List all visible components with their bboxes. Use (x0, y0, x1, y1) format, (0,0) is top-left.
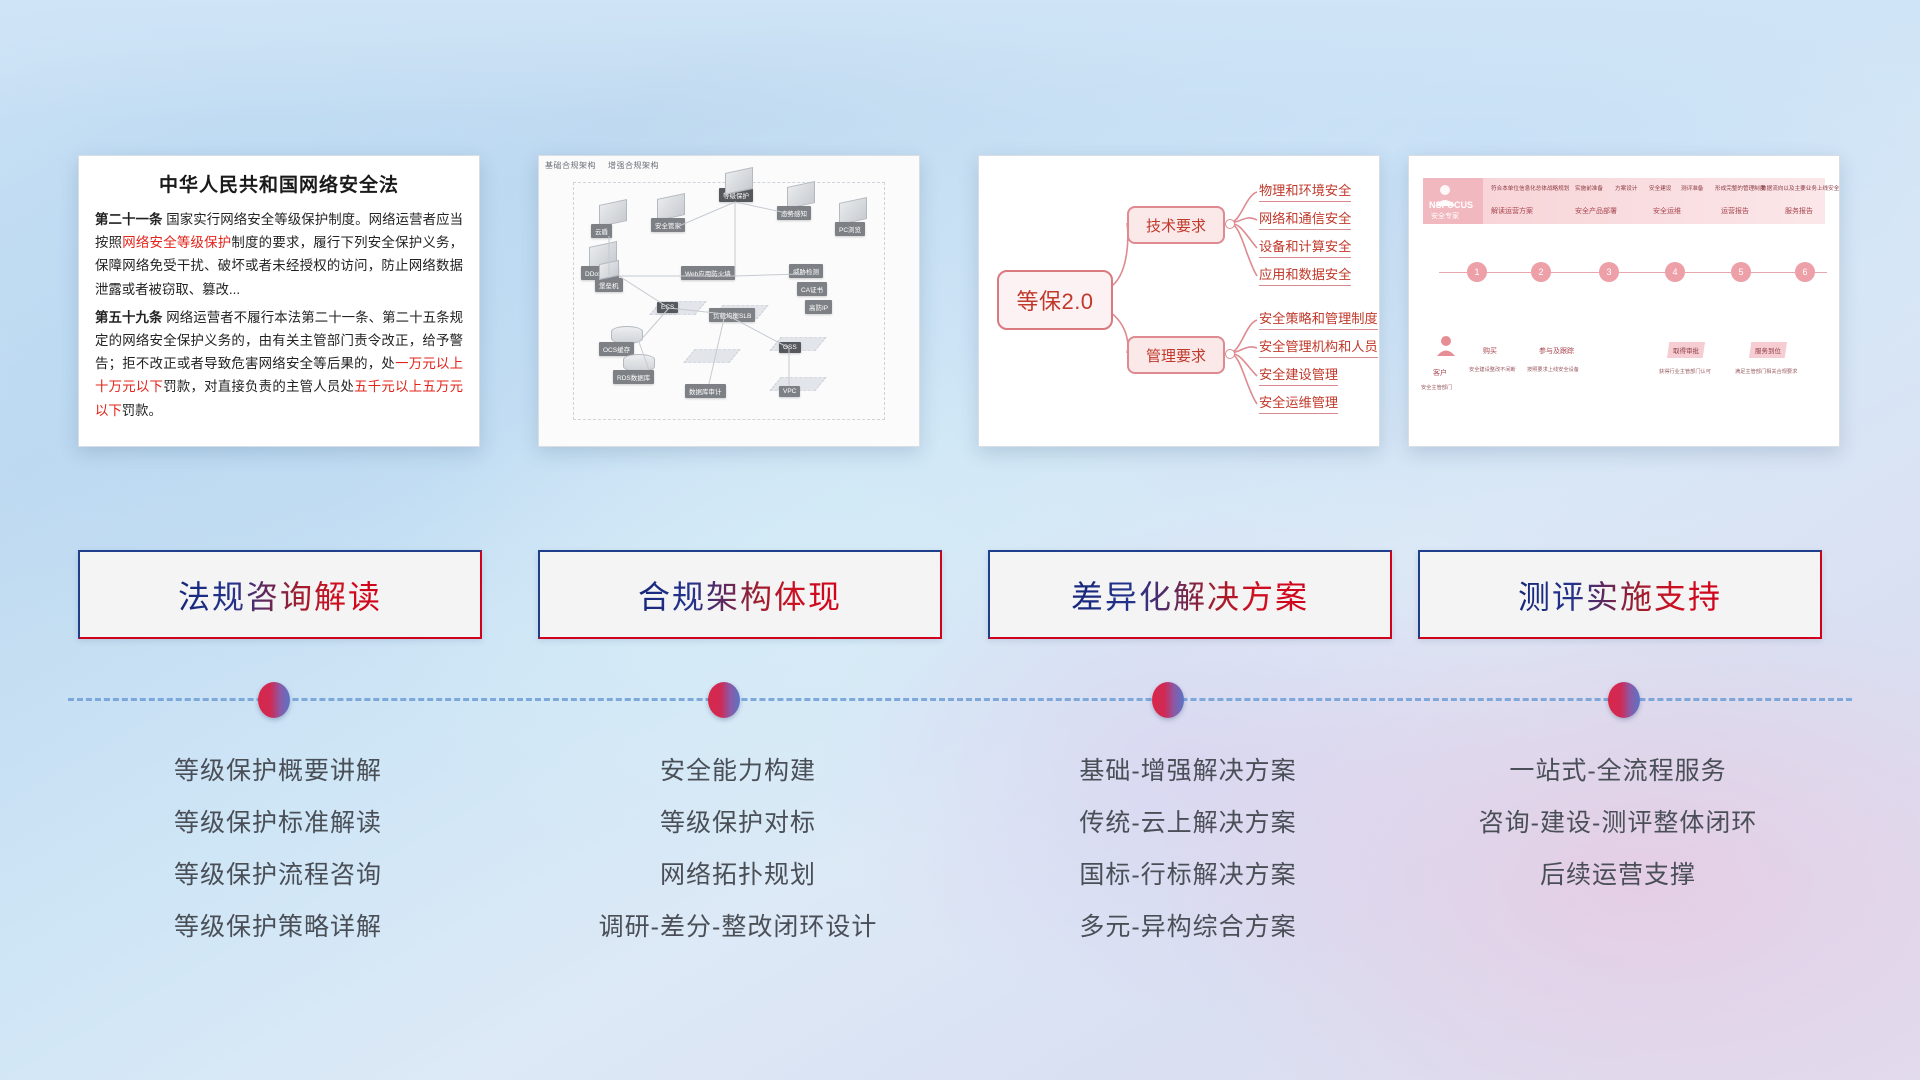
mindmap-leaf-network: 网络和通信安全 (1259, 208, 1351, 230)
mindmap-node-technical[interactable]: 技术要求 (1127, 206, 1225, 244)
pillar-title-1: 法规咨询解读 (178, 572, 382, 618)
roadmap-phase-0: 解读运营方案 (1491, 206, 1533, 216)
roadmap-phase-2: 安全运维 (1653, 206, 1681, 216)
card-cybersecurity-law[interactable]: 中华人民共和国网络安全法 第二十一条 国家实行网络安全等级保护制度。网络运营者应… (78, 155, 480, 447)
mindmap-leaf-application: 应用和数据安全 (1259, 264, 1351, 286)
card-nsfocus-roadmap[interactable]: NSFOCUS 安全专家 符合本单位信息化总体战略规划 实施前准备 方案设计 安… (1408, 155, 1840, 447)
pillar-header-1[interactable]: 法规咨询解读 (78, 550, 482, 639)
mindmap-leaf-policy: 安全策略和管理制度 (1259, 308, 1378, 330)
roadmap-bottom-sub-0: 安全建设整改不间断 (1469, 366, 1516, 373)
roadmap-band-item-6: 数据流向以及主要业务上线安全措施部署 (1761, 184, 1840, 192)
roadmap-band-item-5: 形成完整的管理制度 (1715, 184, 1765, 192)
timeline-dot-3[interactable] (1152, 682, 1184, 718)
arch-connectors (539, 156, 919, 446)
roadmap-bottom-item-1: 参与及跟踪 (1539, 346, 1574, 356)
mindmap-dot-icon (1225, 349, 1235, 359)
list-item: 等级保护策略详解 (78, 901, 478, 953)
card-dengbao-mindmap[interactable]: 等保2.0 技术要求 物理和环境安全 网络和通信安全 设备和计算安全 应用和数据… (978, 155, 1380, 447)
law-title: 中华人民共和国网络安全法 (95, 170, 463, 197)
law-article-21-label: 第二十一条 (95, 212, 162, 227)
list-item: 安全能力构建 (538, 745, 938, 797)
pillar-list-3: 基础-增强解决方案 传统-云上解决方案 国标-行标解决方案 多元-异构综合方案 (988, 745, 1388, 953)
list-item: 一站式-全流程服务 (1418, 745, 1818, 797)
pillar-list-4: 一站式-全流程服务 咨询-建设-测评整体闭环 后续运营支撑 (1418, 745, 1818, 901)
mindmap-leaf-org: 安全管理机构和人员 (1259, 336, 1378, 358)
roadmap-bottom-tag-1: 服务到位 (1749, 342, 1787, 358)
roadmap-band-item-3: 安全建设 (1649, 184, 1671, 192)
list-item: 咨询-建设-测评整体闭环 (1418, 797, 1818, 849)
roadmap-milestone-5[interactable]: 5 (1731, 262, 1751, 282)
mindmap-leaf-physical: 物理和环境安全 (1259, 180, 1351, 202)
list-item: 等级保护概要讲解 (78, 745, 478, 797)
roadmap-bottom-tag-sub-0: 获得行业主管部门认可 (1659, 368, 1711, 375)
roadmap-milestone-3[interactable]: 3 (1599, 262, 1619, 282)
preview-cards-row: 中华人民共和国网络安全法 第二十一条 国家实行网络安全等级保护制度。网络运营者应… (0, 0, 1920, 440)
list-item: 传统-云上解决方案 (988, 797, 1388, 849)
law-document: 中华人民共和国网络安全法 第二十一条 国家实行网络安全等级保护制度。网络运营者应… (79, 156, 479, 446)
mindmap-root-node[interactable]: 等保2.0 (997, 270, 1113, 330)
mindmap-leaf-construction: 安全建设管理 (1259, 364, 1338, 386)
timeline-dashed-line (68, 698, 1852, 701)
roadmap-band-item-0: 符合本单位信息化总体战略规划 (1491, 184, 1569, 192)
list-item: 后续运营支撑 (1418, 849, 1818, 901)
pillar-list-2: 安全能力构建 等级保护对标 网络拓扑规划 调研-差分-整改闭环设计 (538, 745, 938, 953)
roadmap-phase-1: 安全产品部署 (1575, 206, 1617, 216)
roadmap-milestone-6[interactable]: 6 (1795, 262, 1815, 282)
pillar-list-1: 等级保护概要讲解 等级保护标准解读 等级保护流程咨询 等级保护策略详解 (78, 745, 478, 953)
pillar-title-3: 差异化解决方案 (1071, 572, 1309, 618)
timeline-dot-4[interactable] (1608, 682, 1640, 718)
list-item: 等级保护标准解读 (78, 797, 478, 849)
mindmap-node-management[interactable]: 管理要求 (1127, 336, 1225, 374)
list-item: 网络拓扑规划 (538, 849, 938, 901)
mindmap: 等保2.0 技术要求 物理和环境安全 网络和通信安全 设备和计算安全 应用和数据… (979, 156, 1379, 446)
mindmap-dot-icon (1225, 219, 1235, 229)
roadmap-bottom-sub-1: 按照要求上线安全设备 (1527, 366, 1579, 373)
list-item: 等级保护流程咨询 (78, 849, 478, 901)
expert-person-icon (1425, 180, 1465, 220)
roadmap-bottom-tag-sub-1: 满足主管部门相关合规要求 (1735, 368, 1797, 375)
pillar-header-3[interactable]: 差异化解决方案 (988, 550, 1392, 639)
card-compliance-architecture[interactable]: 基础合规架构增强合规架构 云盾 DDoS防护 安全管家 等级保护 态势感知 PC… (538, 155, 920, 447)
roadmap-band-item-4: 测评准备 (1681, 184, 1703, 192)
roadmap-milestone-1[interactable]: 1 (1467, 262, 1487, 282)
list-item: 调研-差分-整改闭环设计 (538, 901, 938, 953)
law-article-59: 第五十九条 网络运营者不履行本法第二十一条、第二十五条规定的网络安全保护义务的，… (95, 306, 463, 422)
list-item: 等级保护对标 (538, 797, 938, 849)
timeline-dot-1[interactable] (258, 682, 290, 718)
law-article-21: 第二十一条 国家实行网络安全等级保护制度。网络运营者应当按照网络安全等级保护制度… (95, 208, 463, 301)
law-article-59-label: 第五十九条 (95, 310, 162, 325)
roadmap-milestone-2[interactable]: 2 (1531, 262, 1551, 282)
roadmap-band-item-2: 方案设计 (1615, 184, 1637, 192)
law-article-21-highlight: 网络安全等级保护 (122, 235, 231, 250)
pillar-title-4: 测评实施支持 (1518, 572, 1722, 618)
roadmap-timeline-line (1439, 272, 1827, 273)
customer-person-icon (1429, 332, 1463, 366)
mindmap-leaf-device: 设备和计算安全 (1259, 236, 1351, 258)
timeline-dot-2[interactable] (708, 682, 740, 718)
list-item: 多元-异构综合方案 (988, 901, 1388, 953)
pillar-header-2[interactable]: 合规架构体现 (538, 550, 942, 639)
roadmap-customer-role: 客户 (1433, 368, 1447, 378)
roadmap-milestone-4[interactable]: 4 (1665, 262, 1685, 282)
roadmap-bottom-item-0: 购买 (1483, 346, 1497, 356)
pillar-header-4[interactable]: 测评实施支持 (1418, 550, 1822, 639)
list-item: 国标-行标解决方案 (988, 849, 1388, 901)
roadmap-phase-3: 运营报告 (1721, 206, 1749, 216)
roadmap-customer-sub: 安全主管部门 (1421, 384, 1452, 391)
roadmap-band-item-1: 实施前准备 (1575, 184, 1603, 192)
pillar-title-2: 合规架构体现 (638, 572, 842, 618)
roadmap-phase-4: 服务报告 (1785, 206, 1813, 216)
roadmap-diagram: NSFOCUS 安全专家 符合本单位信息化总体战略规划 实施前准备 方案设计 安… (1409, 156, 1839, 446)
slide-canvas: 中华人民共和国网络安全法 第二十一条 国家实行网络安全等级保护制度。网络运营者应… (0, 0, 1920, 1080)
list-item: 基础-增强解决方案 (988, 745, 1388, 797)
law-article-59-text-b: 罚款，对直接负责的主管人员处 (163, 379, 354, 394)
roadmap-bottom-tag-0: 取得审批 (1667, 342, 1705, 358)
law-article-59-text-c: 罚款。 (122, 403, 162, 418)
mindmap-leaf-operations: 安全运维管理 (1259, 392, 1338, 414)
architecture-diagram: 基础合规架构增强合规架构 云盾 DDoS防护 安全管家 等级保护 态势感知 PC… (539, 156, 919, 446)
